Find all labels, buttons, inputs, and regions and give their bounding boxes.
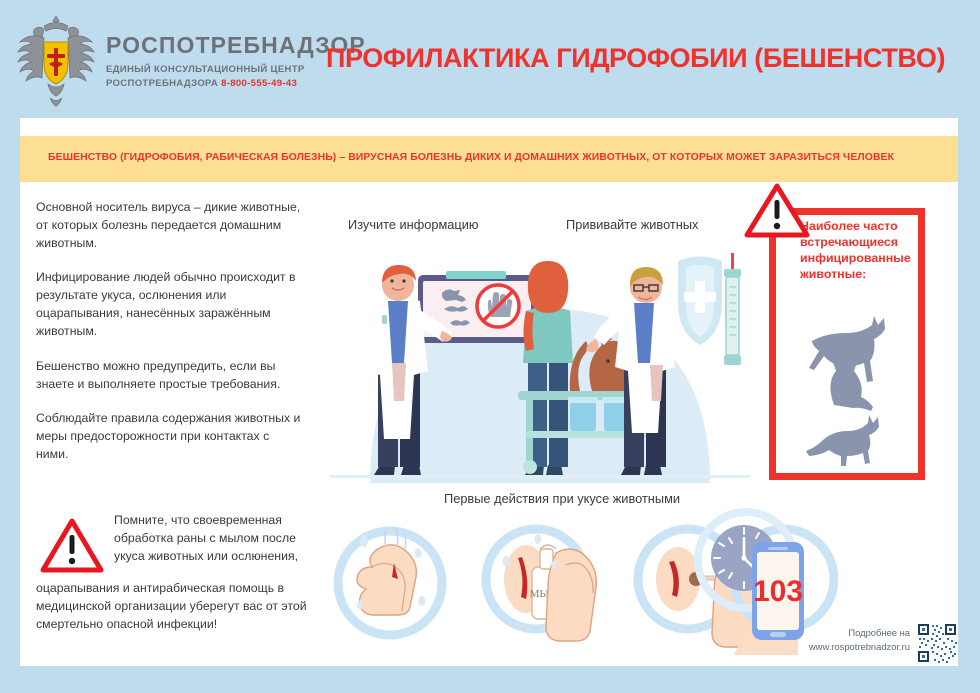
label-first-actions: Первые действия при укусе животными [444, 491, 680, 506]
org-name: РОСПОТРЕБНАДЗОР [106, 34, 326, 57]
warning-triangle-icon-red-box [744, 183, 810, 239]
org-subtitle-line2: РОСПОТРЕБНАДЗОРА [106, 78, 218, 89]
page-title: ПРОФИЛАКТИКА ГИДРОФОБИИ (БЕШЕНСТВО) [326, 45, 946, 72]
no-touch-hand-icon [477, 285, 519, 327]
poster-root: РОСПОТРЕБНАДЗОР ЕДИНЫЙ КОНСУЛЬТАЦИОННЫЙ … [0, 0, 980, 693]
footer-info: Подробнее на www.rospotrebnadzor.ru [790, 626, 910, 654]
hotline-phone: 8-800-555-49-43 [221, 78, 297, 89]
double-headed-eagle-emblem [14, 12, 98, 108]
step-soap: МЫЛО [486, 529, 596, 641]
syringe-icon [724, 253, 741, 365]
shield-cross-icon [678, 257, 722, 346]
poster-header: РОСПОТРЕБНАДЗОР ЕДИНЫЙ КОНСУЛЬТАЦИОННЫЙ … [0, 0, 980, 118]
logo-block: РОСПОТРЕБНАДЗОР ЕДИНЫЙ КОНСУЛЬТАЦИОННЫЙ … [14, 10, 314, 110]
paragraph-infection: Инфицирование людей обычно происходит в … [36, 269, 301, 340]
definition-banner-text: БЕШЕНСТВО (ГИДРОФОБИЯ, РАБИЧЕСКАЯ БОЛЕЗН… [48, 152, 948, 163]
step-wash-hands [338, 527, 442, 635]
warning-text-tail: оцарапывания и антирабическая помощь в м… [36, 580, 318, 633]
org-subtitle-line1: ЕДИНЫЙ КОНСУЛЬТАЦИОННЫЙ ЦЕНТР [106, 64, 305, 75]
clinic-illustration [330, 243, 750, 483]
paragraph-prevention: Бешенство можно предупредить, если вы зн… [36, 358, 301, 394]
animal-silhouettes [790, 297, 910, 472]
org-subtitle: ЕДИНЫЙ КОНСУЛЬТАЦИОННЫЙ ЦЕНТР РОСПОТРЕБН… [106, 63, 326, 91]
warning-text-head: Помните, что своевременная обработка ран… [114, 512, 304, 565]
logo-text-block: РОСПОТРЕБНАДЗОР ЕДИНЫЙ КОНСУЛЬТАЦИОННЫЙ … [106, 34, 326, 91]
left-text-column: Основной носитель вируса – дикие животны… [36, 199, 301, 481]
infected-animals-title: Наиболее часто встречающиеся инфицирован… [800, 218, 925, 283]
emergency-number: 103 [753, 575, 803, 608]
paragraph-carrier: Основной носитель вируса – дикие животны… [36, 199, 301, 252]
warning-triangle-icon [40, 518, 104, 574]
label-study-info: Изучите информацию [348, 217, 479, 232]
paragraph-rules: Соблюдайте правила содержания животных и… [36, 410, 301, 463]
label-vaccinate-animals: Прививайте животных [566, 217, 698, 232]
footer-site-url: www.rospotrebnadzor.ru [790, 640, 910, 654]
footer-more-label: Подробнее на [790, 626, 910, 640]
fox-silhouette [806, 415, 879, 466]
qr-code[interactable] [916, 622, 958, 664]
